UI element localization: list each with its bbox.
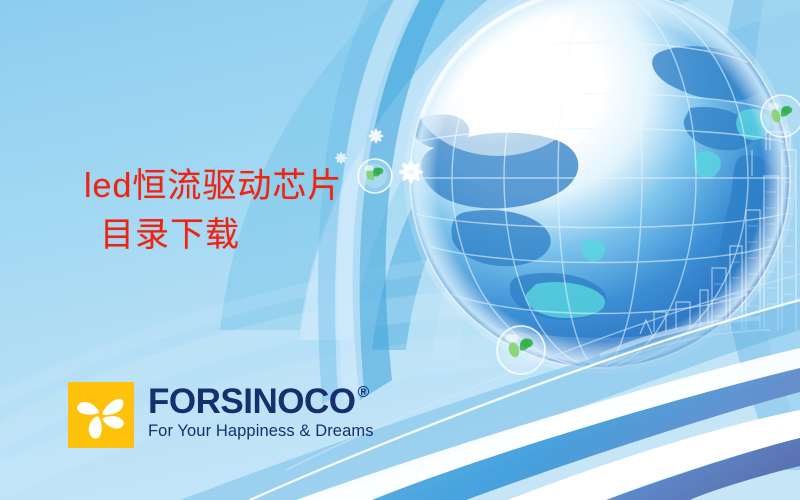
brand-text: FORSINOCO xyxy=(148,384,355,419)
registered-trademark-icon: ® xyxy=(357,385,368,401)
banner-image: led恒流驱动芯片 目录下载 FORSINOCO ® For Your Happ… xyxy=(0,0,800,500)
four-petal-flower-icon xyxy=(68,382,134,448)
company-logo: FORSINOCO ® For Your Happiness & Dreams xyxy=(68,382,374,448)
brand-name: FORSINOCO ® xyxy=(148,384,374,419)
banner-headline: led恒流驱动芯片 目录下载 xyxy=(84,162,342,261)
headline-line-1: led恒流驱动芯片 xyxy=(84,167,342,205)
headline-line-2: 目录下载 xyxy=(84,211,342,260)
brand-tagline: For Your Happiness & Dreams xyxy=(148,422,374,441)
